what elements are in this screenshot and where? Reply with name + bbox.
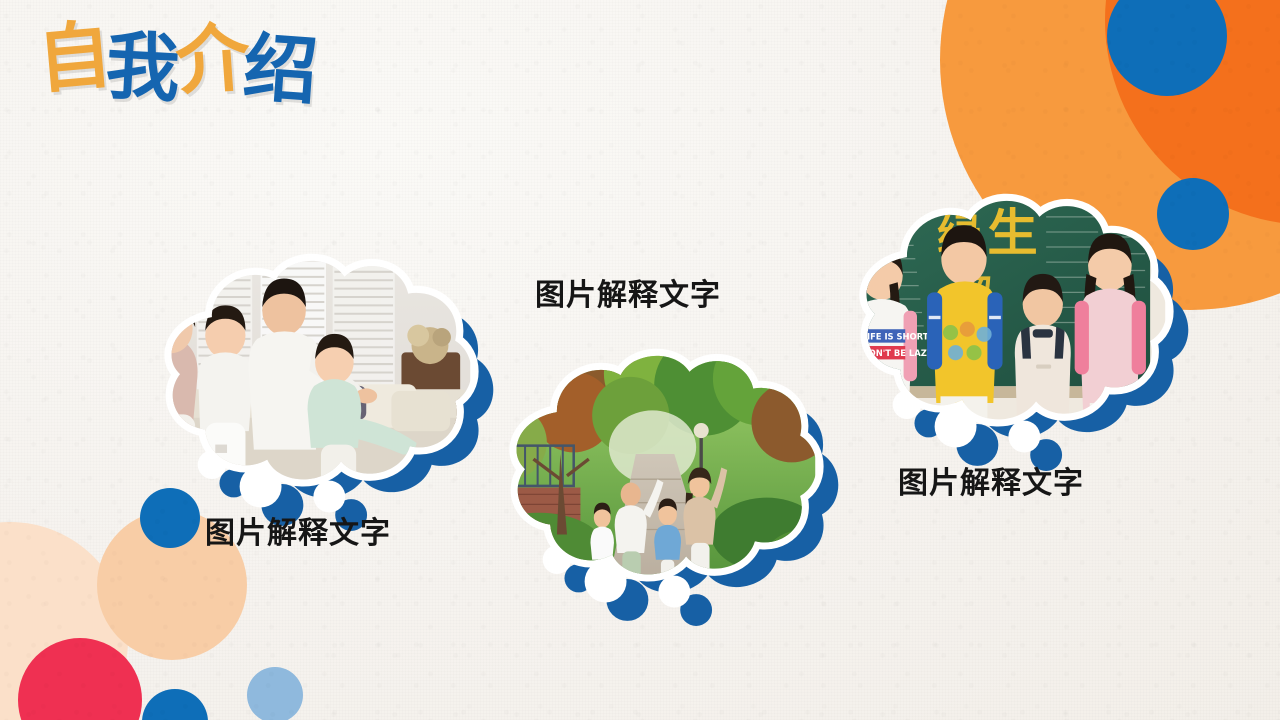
caption-left: 图片解释文字 [205,508,391,552]
slide-canvas: 自 我 介 绍 [0,0,1280,720]
photo-family-sofa-frame [118,238,487,522]
title-char-1: 自 [35,19,115,98]
caption-right: 图片解释文字 [898,458,1084,502]
caption-center: 图片解释文字 [535,270,721,314]
title-char-4: 绍 [241,31,320,109]
svg-text:生: 生 [987,203,1037,262]
svg-text:LIFE IS SHORT: LIFE IS SHORT [862,331,929,341]
photo-park-walk[interactable] [463,333,808,581]
title-char-3: 介 [173,22,252,100]
photo-students-blackboard-frame: 绿 生 忽 LIFE IS SHORT DON'T BE LAZY [813,178,1182,462]
photo-family-sofa[interactable] [118,238,463,486]
title-char-2: 我 [104,30,182,106]
page-title: 自 我 介 绍 [38,26,318,99]
blue-pale-circle [247,667,303,720]
photo-students-blackboard[interactable]: 绿 生 忽 LIFE IS SHORT DON'T BE LAZY [813,178,1158,426]
photo-park-walk-frame [463,333,832,617]
blue-circle-bottom [142,689,208,720]
